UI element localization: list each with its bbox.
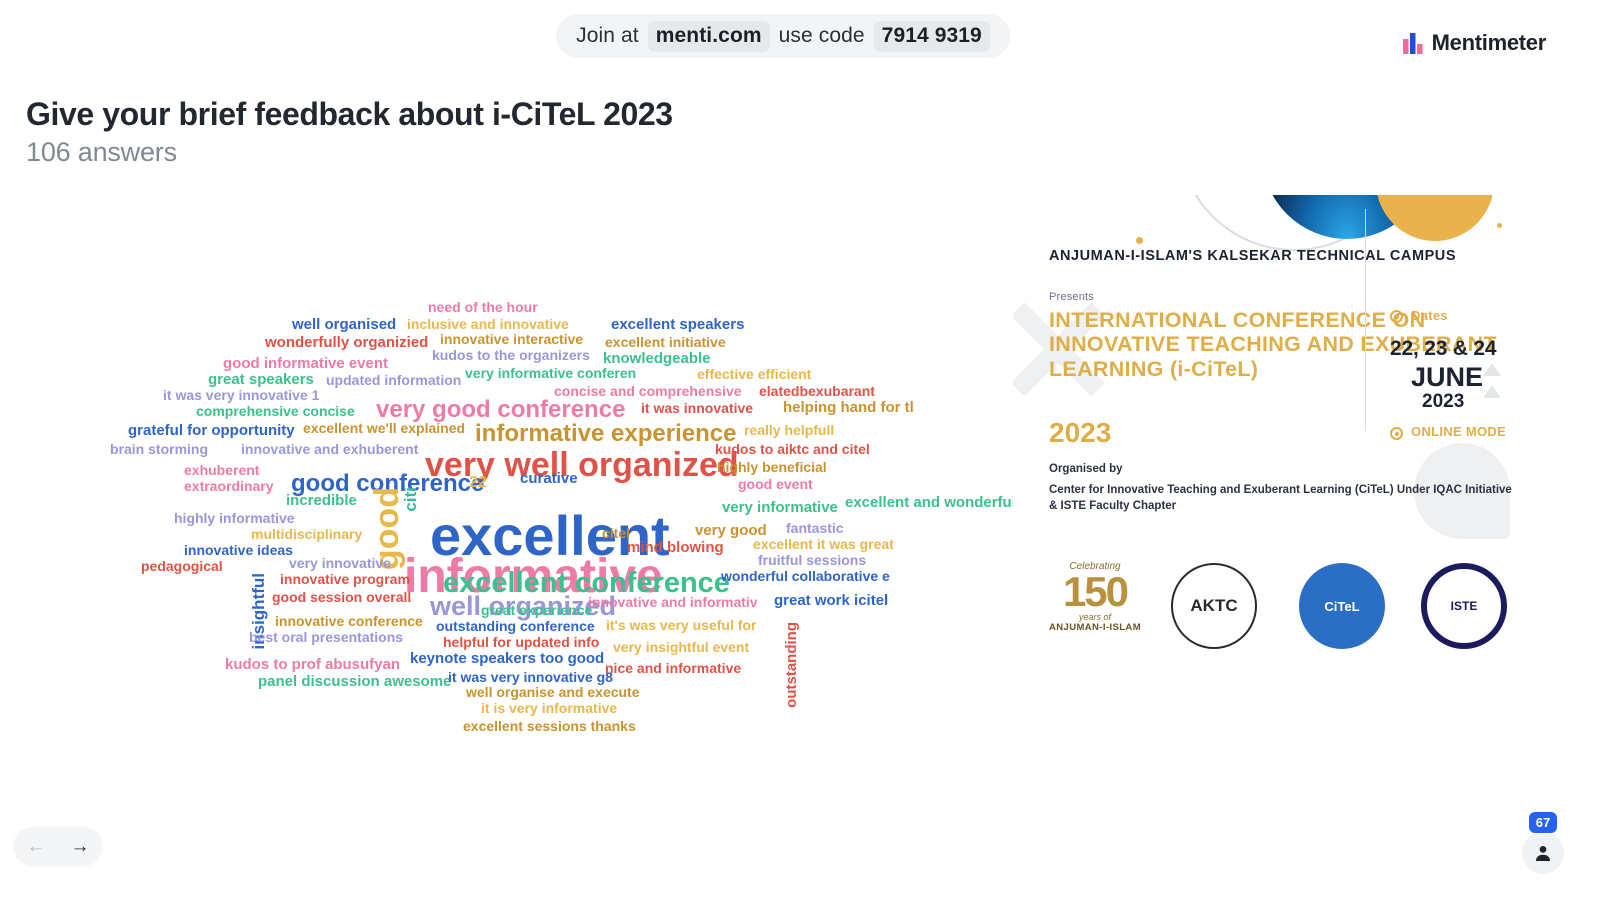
word-cloud-term: very insightful event xyxy=(613,640,749,654)
word-cloud-term: grateful for opportunity xyxy=(128,423,295,438)
word-cloud-term: great speakers xyxy=(208,372,314,387)
word-cloud-term: very informative xyxy=(722,500,838,515)
word-cloud-term: innovative ideas xyxy=(184,543,293,557)
word-cloud-term: informative experience xyxy=(475,422,736,446)
poster-dot-accent-2 xyxy=(1497,223,1502,228)
poster-presents-label: Presents xyxy=(1049,291,1094,303)
person-icon xyxy=(1534,844,1552,862)
word-cloud-term: nice and informative xyxy=(605,661,741,675)
citel-seal-logo: CiTeL xyxy=(1299,563,1385,649)
word-cloud-term: citel xyxy=(602,526,630,540)
word-cloud-term: exhuberent xyxy=(184,463,259,477)
poster-organised-by-label: Organised by xyxy=(1049,463,1123,475)
word-cloud-term: curative xyxy=(520,471,578,486)
poster-dates-year: 2023 xyxy=(1422,391,1464,413)
anjuman-150-number: 150 xyxy=(1029,572,1161,612)
answers-count: 106 answers xyxy=(26,137,177,168)
word-cloud-term: excellent sessions thanks xyxy=(463,719,636,733)
anjuman-150-logo: Celebrating 150 years of ANJUMAN-I-ISLAM xyxy=(1029,561,1161,633)
word-cloud-term: outstanding conference xyxy=(436,619,595,633)
word-cloud-term: innovative conference xyxy=(275,614,423,628)
word-cloud-term: it was very innovative g8 xyxy=(448,670,613,684)
word-cloud-term: incredible xyxy=(286,493,357,508)
word-cloud-term: panel discussion awesome xyxy=(258,674,451,689)
poster-gold-swirl xyxy=(1376,195,1494,241)
word-cloud-term: extraordinary xyxy=(184,479,273,493)
poster-dates-days: 22, 23 & 24 xyxy=(1390,337,1496,361)
participant-avatar xyxy=(1522,832,1564,874)
word-cloud-term: fantastic xyxy=(786,521,844,535)
word-cloud-term: kudos to the organizers xyxy=(432,348,590,362)
word-cloud-term: highly informative xyxy=(174,511,295,525)
word-cloud-term: pedagogical xyxy=(141,559,223,573)
poster-logo-row: Celebrating 150 years of ANJUMAN-I-ISLAM… xyxy=(1021,557,1511,667)
poster-divider xyxy=(1365,209,1366,431)
word-cloud-term: well organise and execute xyxy=(466,685,640,699)
word-cloud-term: it was very innovative 1 xyxy=(163,388,319,402)
poster-triangle-2 xyxy=(1483,385,1501,398)
word-cloud-term: highly beneficial xyxy=(717,460,827,474)
poster-mode-label: ONLINE MODE xyxy=(1411,424,1506,440)
word-cloud-term: excellent initiative xyxy=(605,335,726,349)
word-cloud-term: excellent speakers xyxy=(611,317,744,332)
word-cloud-term: kudos to aiktc and citel xyxy=(715,442,870,456)
word-cloud-term: citi xyxy=(402,487,419,512)
aktc-seal-logo: AKTC xyxy=(1171,563,1257,649)
mentimeter-bars-icon xyxy=(1403,33,1423,54)
word-cloud: excellentinformativevery well organizede… xyxy=(0,190,1010,770)
conference-poster-image: ✕ ANJUMAN-I-ISLAM'S KALSEKAR TECHNICAL C… xyxy=(1013,195,1518,685)
word-cloud-term: wonderfully organizied xyxy=(265,335,428,350)
word-cloud-term: really helpfull xyxy=(744,423,834,437)
arrow-right-icon[interactable]: → xyxy=(71,837,90,856)
word-cloud-term: brain storming xyxy=(110,442,208,456)
word-cloud-term: updated information xyxy=(326,373,461,387)
dates-bullet-icon xyxy=(1390,310,1403,323)
join-code-chip: 7914 9319 xyxy=(874,21,990,52)
word-cloud-term: innovative and informativ xyxy=(588,595,758,609)
word-cloud-term: wonderful collaborative e xyxy=(721,569,890,583)
mentimeter-wordmark: Mentimeter xyxy=(1432,30,1546,56)
poster-triangle-1 xyxy=(1483,363,1501,376)
word-cloud-term: very good conference xyxy=(376,398,625,422)
word-cloud-term: inclusive and innovative xyxy=(407,317,569,331)
word-cloud-term: kudos to prof abusufyan xyxy=(225,657,400,672)
word-cloud-term: best oral presentations xyxy=(249,630,403,644)
word-cloud-term: great experience xyxy=(481,603,592,617)
mode-bullet-icon xyxy=(1390,427,1403,440)
word-cloud-term: concise and comprehensive xyxy=(554,384,742,398)
word-cloud-term: knowledgeable xyxy=(603,351,711,366)
word-cloud-term: effective efficient xyxy=(697,367,811,381)
join-instruction-pill: Join at menti.com use code 7914 9319 xyxy=(556,14,1010,58)
word-cloud-term: outstanding xyxy=(784,622,799,708)
word-cloud-term: helping hand for tl xyxy=(783,400,914,415)
poster-organised-by: Center for Innovative Teaching and Exube… xyxy=(1049,483,1518,514)
word-cloud-term: innovative program xyxy=(280,572,410,586)
word-cloud-term: it is very informative xyxy=(481,701,617,715)
word-cloud-term: mind blowing xyxy=(627,540,724,555)
participant-counter[interactable]: 67 xyxy=(1522,812,1564,874)
word-cloud-term: fruitful sessions xyxy=(758,553,866,567)
word-cloud-term: well organised xyxy=(292,317,396,332)
word-cloud-term: elatedbexubarant xyxy=(759,384,875,398)
poster-conference-year: 2023 xyxy=(1049,417,1111,449)
participant-count-badge: 67 xyxy=(1529,812,1557,833)
word-cloud-term: innovative interactive xyxy=(440,332,583,346)
word-cloud-term: it's was very useful for xyxy=(606,618,756,632)
word-cloud-term: great work icitel xyxy=(774,593,888,608)
anjuman-name-text: ANJUMAN-I-ISLAM xyxy=(1029,622,1161,633)
word-cloud-term: multidisciplinary xyxy=(251,527,362,541)
arrow-left-icon[interactable]: ← xyxy=(27,837,46,856)
poster-dot-accent xyxy=(1136,237,1143,244)
word-cloud-term: excellent it was great xyxy=(753,537,894,551)
mentimeter-brand: Mentimeter xyxy=(1403,30,1546,56)
word-cloud-term: very innovative xyxy=(289,556,391,570)
mentimeter-presentation-view: Join at menti.com use code 7914 9319 Men… xyxy=(0,0,1600,900)
word-cloud-term: innovative and exhuberent xyxy=(241,442,418,456)
anjuman-years-text: years of xyxy=(1029,612,1161,622)
slide-navigation: ← → xyxy=(14,827,102,865)
word-cloud-term: excellent we'll explained xyxy=(303,421,465,435)
poster-dates-label: Dates xyxy=(1411,308,1448,323)
word-cloud-term: keynote speakers too good xyxy=(410,651,604,666)
poster-dates-month: JUNE xyxy=(1411,362,1483,393)
word-cloud-term: 22 xyxy=(469,475,487,491)
word-cloud-term: good informative event xyxy=(223,356,388,371)
word-cloud-term: it was innovative xyxy=(641,401,753,415)
word-cloud-term: comprehensive concise xyxy=(196,404,355,418)
word-cloud-term: very informative conferen xyxy=(465,366,636,380)
word-cloud-term: excellent and wonderful xyxy=(845,495,1016,510)
poster-organisation: ANJUMAN-I-ISLAM'S KALSEKAR TECHNICAL CAM… xyxy=(1049,247,1456,267)
word-cloud-term: good session overall xyxy=(272,590,411,604)
use-code-label: use code xyxy=(779,24,865,48)
join-prefix-label: Join at xyxy=(576,24,639,48)
page-title: Give your brief feedback about i-CiTeL 2… xyxy=(26,96,673,133)
word-cloud-term: helpful for updated info xyxy=(443,635,599,649)
word-cloud-term: need of the hour xyxy=(428,300,538,314)
menti-domain-chip: menti.com xyxy=(648,21,770,52)
iste-seal-logo: ISTE xyxy=(1421,563,1507,649)
word-cloud-term: good event xyxy=(738,477,813,491)
